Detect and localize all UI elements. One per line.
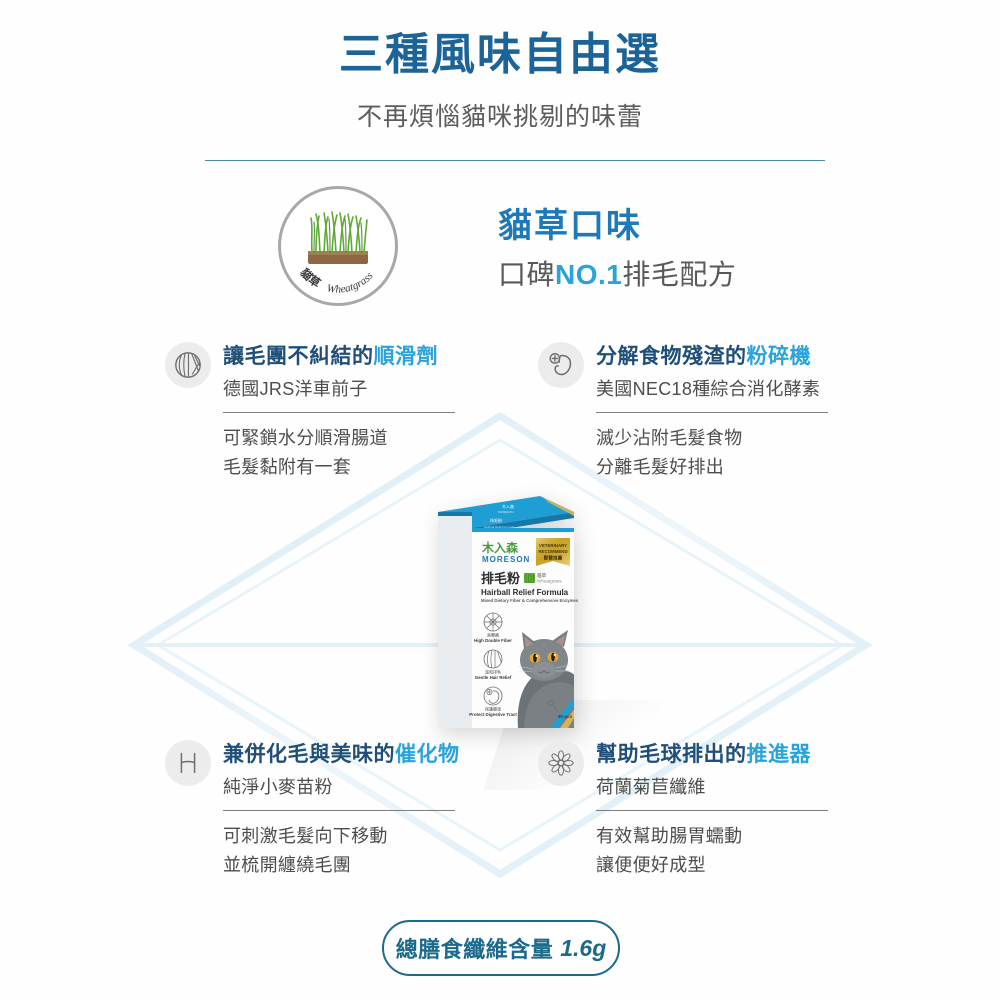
feature-body: 兼併化毛與美味的催化物 純淨小麥苗粉 可刺激毛髮向下移動 並梳開纏繞毛團 xyxy=(223,738,495,880)
feature-block-chicory-fiber: 幫助毛球排出的推進器 荷蘭菊苣纖維 有效幫助腸胃蠕動 讓便便好成型 xyxy=(538,738,868,880)
feature-title-accent: 粉碎機 xyxy=(747,345,812,368)
chicory-flower-icon xyxy=(538,740,584,786)
feature-line: 滅少沾附毛髮食物 xyxy=(596,424,868,453)
feature-body: 分解食物殘渣的粉碎機 美國NEC18種綜合消化酵素 滅少沾附毛髮食物 分離毛髮好… xyxy=(596,340,868,482)
package-feature-cn-3: 保護腸道 xyxy=(485,706,501,712)
svg-text:貓草: 貓草 xyxy=(298,266,324,291)
package-feature-cn-1: 高雙纖 xyxy=(487,632,499,638)
feature-subtitle: 荷蘭菊苣纖維 xyxy=(596,773,868,799)
fiber-content-value: 1.6g xyxy=(560,935,606,962)
feature-title: 分解食物殘渣的粉碎機 xyxy=(596,340,868,370)
package-top-product-en: Hairball Relief Formula xyxy=(484,525,515,529)
flavour-subtitle: 口碑NO.1排毛配方 xyxy=(498,253,736,293)
feature-block-psyllium: 讓毛團不糾結的順滑劑 德國JRS洋車前子 可緊鎖水分順滑腸道 毛髮黏附有一套 xyxy=(165,340,495,482)
feature-title: 幫助毛球排出的推進器 xyxy=(596,738,868,768)
package-feature-en-2: Gentle Hair Relief xyxy=(475,675,512,680)
feature-line: 可刺激毛髮向下移動 xyxy=(223,822,495,851)
feature-title-accent: 催化物 xyxy=(395,743,460,766)
feature-subtitle: 德國JRS洋車前子 xyxy=(223,375,495,401)
badge-label-cn: 貓草 xyxy=(298,266,324,291)
feature-title: 讓毛團不糾結的順滑劑 xyxy=(223,340,495,370)
page-title: 三種風味自由選 xyxy=(0,30,1000,81)
package-product-cn: 排毛粉 xyxy=(481,571,520,586)
feature-divider xyxy=(223,810,455,811)
package-feature-en-1: High Double Fiber xyxy=(474,638,512,643)
flavour-sub-highlight: NO.1 xyxy=(555,259,622,290)
feature-divider xyxy=(596,810,828,811)
feature-subtitle: 純淨小麥苗粉 xyxy=(223,773,495,799)
package-feature-cn-2: 溫和排毛 xyxy=(485,669,501,675)
product-package: 木入森 MORESON 排毛粉 Hairball Relief Formula … xyxy=(432,482,580,734)
feature-title-accent: 推進器 xyxy=(747,743,812,766)
feature-line: 可緊鎖水分順滑腸道 xyxy=(223,424,495,453)
feature-line: 毛髮黏附有一套 xyxy=(223,453,495,482)
package-badge-line3: 獸醫推薦 xyxy=(544,555,563,562)
feature-title-main: 分解食物殘渣的 xyxy=(596,345,747,368)
husk-fiber-icon xyxy=(165,342,211,388)
feature-divider xyxy=(596,412,828,413)
package-badge-line2: RECOMMEND xyxy=(538,549,567,554)
flavour-sub-suffix: 排毛配方 xyxy=(622,259,736,290)
page-header: 三種風味自由選 不再煩惱貓咪挑剔的味蕾 xyxy=(0,0,1000,133)
package-top-brand-en: MORESON xyxy=(498,510,514,514)
feature-line: 並梳開纏繞毛團 xyxy=(223,851,495,880)
package-top-product: 排毛粉 xyxy=(490,517,502,523)
feature-line: 有效幫助腸胃蠕動 xyxy=(596,822,868,851)
feature-subtitle: 美國NEC18種綜合消化酵素 xyxy=(596,375,868,401)
feature-title: 兼併化毛與美味的催化物 xyxy=(223,738,495,768)
package-product-en-sub: Mixed Dietary Fiber & Comprehensive Enzy… xyxy=(481,598,579,603)
svg-text:Wheatgrass: Wheatgrass xyxy=(326,270,376,296)
feature-block-wheatgrass-powder: 兼併化毛與美味的催化物 純淨小麥苗粉 可刺激毛髮向下移動 並梳開纏繞毛團 xyxy=(165,738,495,880)
badge-curved-text: 貓草 Wheatgrass xyxy=(278,186,398,306)
wheatgrass-badge: 貓草 Wheatgrass xyxy=(278,186,398,306)
feature-line: 讓便便好成型 xyxy=(596,851,868,880)
wheat-sprout-icon xyxy=(165,740,211,786)
package-badge-line1: VETERINARY xyxy=(539,543,567,548)
page-subtitle: 不再煩惱貓咪挑剔的味蕾 xyxy=(0,97,1000,133)
fiber-content-label: 總膳食纖維含量 xyxy=(396,932,554,964)
package-top-brand: 木入森 xyxy=(502,503,514,509)
stomach-plus-icon xyxy=(538,342,584,388)
feature-body: 讓毛團不糾結的順滑劑 德國JRS洋車前子 可緊鎖水分順滑腸道 毛髮黏附有一套 xyxy=(223,340,495,482)
feature-title-main: 幫助毛球排出的 xyxy=(596,743,747,766)
feature-block-enzymes: 分解食物殘渣的粉碎機 美國NEC18種綜合消化酵素 滅少沾附毛髮食物 分離毛髮好… xyxy=(538,340,868,482)
package-feature-en-3: Protect Digestive Tract xyxy=(469,712,517,717)
flavour-text-block: 貓草口味 口碑NO.1排毛配方 xyxy=(498,198,736,293)
package-brand-cn: 木入森 xyxy=(481,540,519,555)
feature-divider xyxy=(223,412,455,413)
flavour-sub-prefix: 口碑 xyxy=(498,259,555,290)
infographic-page: 三種風味自由選 不再煩惱貓咪挑剔的味蕾 xyxy=(0,0,1000,1000)
package-count: 30 pcs xyxy=(558,714,573,719)
feature-body: 幫助毛球排出的推進器 荷蘭菊苣纖維 有效幫助腸胃蠕動 讓便便好成型 xyxy=(596,738,868,880)
package-feature-icon-1 xyxy=(484,613,502,631)
fiber-content-badge: 總膳食纖維含量 1.6g xyxy=(382,920,620,976)
package-product-en: Hairball Relief Formula xyxy=(481,588,569,597)
badge-label-en: Wheatgrass xyxy=(326,270,376,296)
feature-title-main: 兼併化毛與美味的 xyxy=(223,743,395,766)
package-brand-en: MORESON xyxy=(482,555,530,564)
header-divider xyxy=(205,160,825,161)
package-flavour-en: Wheatgrass xyxy=(537,579,562,584)
feature-line: 分離毛髮好排出 xyxy=(596,453,868,482)
feature-title-accent: 順滑劑 xyxy=(374,345,439,368)
feature-title-main: 讓毛團不糾結的 xyxy=(223,345,374,368)
flavour-title: 貓草口味 xyxy=(498,198,736,247)
flavour-row: 貓草 Wheatgrass 貓草口味 口碑NO.1排毛配方 xyxy=(0,186,1000,306)
